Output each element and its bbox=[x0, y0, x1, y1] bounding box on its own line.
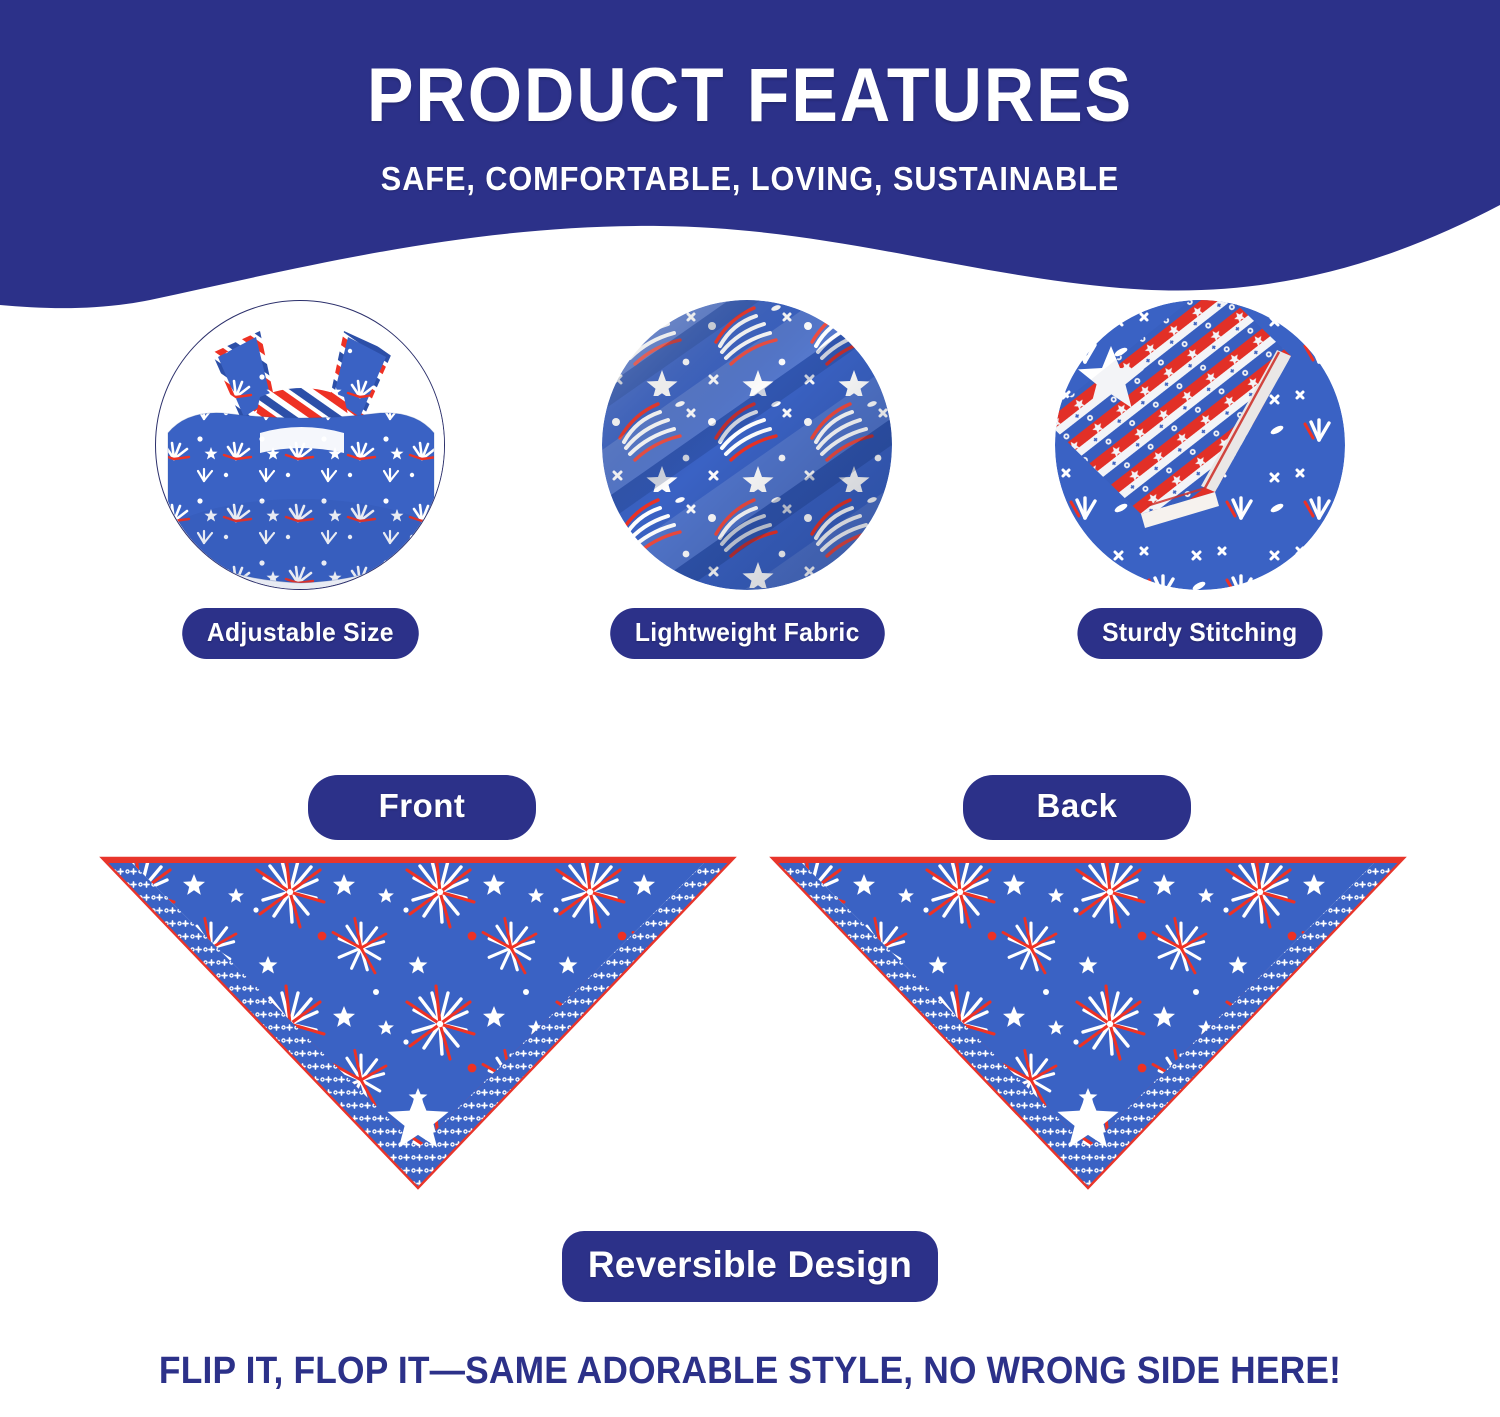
folded-fabric-closeup-photo bbox=[602, 300, 892, 590]
stitched-corner-closeup-photo bbox=[1055, 300, 1345, 590]
bandana-triangle-back-photo bbox=[768, 852, 1408, 1202]
feature-item-adjustable-size: Adjustable Size bbox=[145, 300, 455, 659]
page-subtitle: SAFE, COMFORTABLE, LOVING, SUSTAINABLE bbox=[53, 160, 1448, 198]
feature-list: Adjustable Size bbox=[0, 300, 1500, 665]
feature-item-lightweight-fabric: Lightweight Fabric bbox=[592, 300, 902, 659]
bandana-tied-around-neck-photo bbox=[155, 300, 445, 590]
feature-label-adjustable-size: Adjustable Size bbox=[182, 608, 418, 659]
reversible-design-pill: Reversible Design bbox=[562, 1231, 938, 1302]
bandana-triangle-front-photo bbox=[98, 852, 738, 1202]
footer-tagline: FLIP IT, FLOP IT—SAME ADORABLE STYLE, NO… bbox=[53, 1350, 1448, 1393]
feature-item-sturdy-stitching: Sturdy Stitching bbox=[1045, 300, 1355, 659]
product-feature-infographic: PRODUCT FEATURES SAFE, COMFORTABLE, LOVI… bbox=[0, 0, 1500, 1417]
feature-label-sturdy-stitching: Sturdy Stitching bbox=[1078, 608, 1323, 659]
feature-label-lightweight-fabric: Lightweight Fabric bbox=[610, 608, 884, 659]
back-label-pill: Back bbox=[963, 775, 1191, 840]
page-title: PRODUCT FEATURES bbox=[60, 52, 1440, 139]
front-label-pill: Front bbox=[308, 775, 536, 840]
